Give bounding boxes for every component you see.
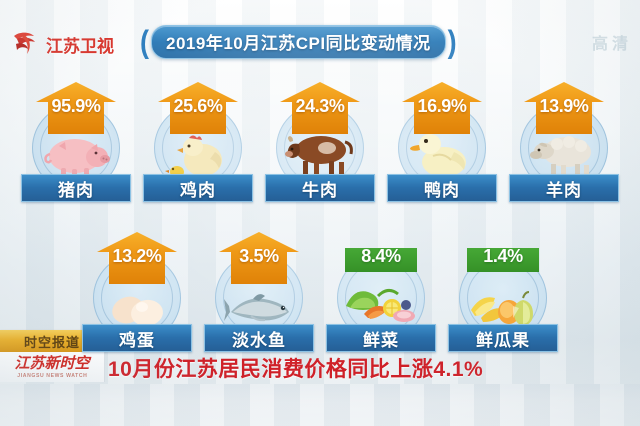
channel-logo-text: 江苏卫视 (46, 32, 114, 57)
item-label: 鲜菜 (363, 326, 399, 351)
item-value: 13.2% (94, 246, 180, 267)
value-badge: 16.9% (402, 82, 482, 134)
channel-logo: 江苏卫视 (8, 24, 136, 64)
item-label-bar: 猪肉 (21, 174, 131, 202)
chart-item-freshwater-fish: 3.5% 淡水鱼 (204, 232, 314, 344)
chart-item-duck: 16.9% 鸭肉 (387, 82, 497, 194)
value-badge: 3.5% (219, 232, 299, 284)
item-label-bar: 羊肉 (509, 174, 619, 202)
broadcast-screen: 江苏卫视 ( 2019年10月江苏CPI同比变动情况 ) 高清 (0, 0, 640, 426)
chart-title-bar: ( 2019年10月江苏CPI同比变动情况 ) (140, 27, 457, 57)
item-label-bar: 鸡肉 (143, 174, 253, 202)
hd-watermark: 高清 (592, 30, 632, 54)
item-value: 1.4% (460, 246, 546, 267)
value-badge: 95.9% (36, 82, 116, 134)
item-label: 淡水鱼 (232, 326, 286, 351)
item-label: 牛肉 (302, 176, 338, 201)
headline-bar: 10月份江苏居民消费价格同比上涨4.1% (108, 352, 640, 384)
value-badge: 24.3% (280, 82, 360, 134)
section-tag-label: 时空报道 (24, 332, 80, 351)
item-label-bar: 鲜菜 (326, 324, 436, 352)
chart-title-pill: 2019年10月江苏CPI同比变动情况 (151, 25, 446, 59)
chart-row-1: 95.9% 猪肉 (0, 82, 640, 194)
value-badge: 25.6% (158, 82, 238, 134)
page-title: 2019年10月江苏CPI同比变动情况 (166, 34, 431, 53)
jiangsu-tv-swirl-icon (8, 27, 42, 61)
value-badge: 1.4% (463, 232, 543, 284)
lower-third-background (0, 384, 640, 426)
chart-item-fresh-vegetables: 8.4% 鲜菜 (326, 232, 436, 344)
item-label-bar: 淡水鱼 (204, 324, 314, 352)
chart-row-2: 13.2% 鸡蛋 3. (0, 232, 640, 344)
chart-item-pork: 95.9% 猪肉 (21, 82, 131, 194)
chart-item-beef: 24.3% 牛肉 (265, 82, 375, 194)
chart-item-chicken: 25.6% 鸡肉 (143, 82, 253, 194)
item-label: 羊肉 (546, 176, 582, 201)
value-badge: 8.4% (341, 232, 421, 284)
item-value: 24.3% (277, 96, 363, 117)
item-label-bar: 牛肉 (265, 174, 375, 202)
chart-item-egg: 13.2% 鸡蛋 (82, 232, 192, 344)
program-logo: 江苏新时空 JIANGSU NEWS WATCH (0, 352, 105, 382)
item-label: 鸡肉 (180, 176, 216, 201)
item-label-bar: 鸭肉 (387, 174, 497, 202)
value-badge: 13.9% (524, 82, 604, 134)
program-logo-en: JIANGSU NEWS WATCH (17, 373, 87, 379)
item-label: 鲜瓜果 (476, 326, 530, 351)
program-logo-cn: 江苏新时空 (14, 356, 89, 371)
chart-item-fresh-fruit: 1.4% 鲜瓜果 (448, 232, 558, 344)
item-label-bar: 鲜瓜果 (448, 324, 558, 352)
item-value: 95.9% (33, 96, 119, 117)
headline-text: 10月份江苏居民消费价格同比上涨4.1% (108, 353, 483, 383)
item-label: 猪肉 (58, 176, 94, 201)
item-label-bar: 鸡蛋 (82, 324, 192, 352)
item-label: 鸭肉 (424, 176, 460, 201)
item-value: 8.4% (338, 246, 424, 267)
item-label: 鸡蛋 (119, 326, 155, 351)
item-value: 13.9% (521, 96, 607, 117)
item-value: 3.5% (216, 246, 302, 267)
value-badge: 13.2% (97, 232, 177, 284)
item-value: 25.6% (155, 96, 241, 117)
title-left-paren: ( (140, 26, 149, 57)
item-value: 16.9% (399, 96, 485, 117)
title-right-paren: ) (448, 26, 457, 57)
chart-item-mutton: 13.9% 羊肉 (509, 82, 619, 194)
